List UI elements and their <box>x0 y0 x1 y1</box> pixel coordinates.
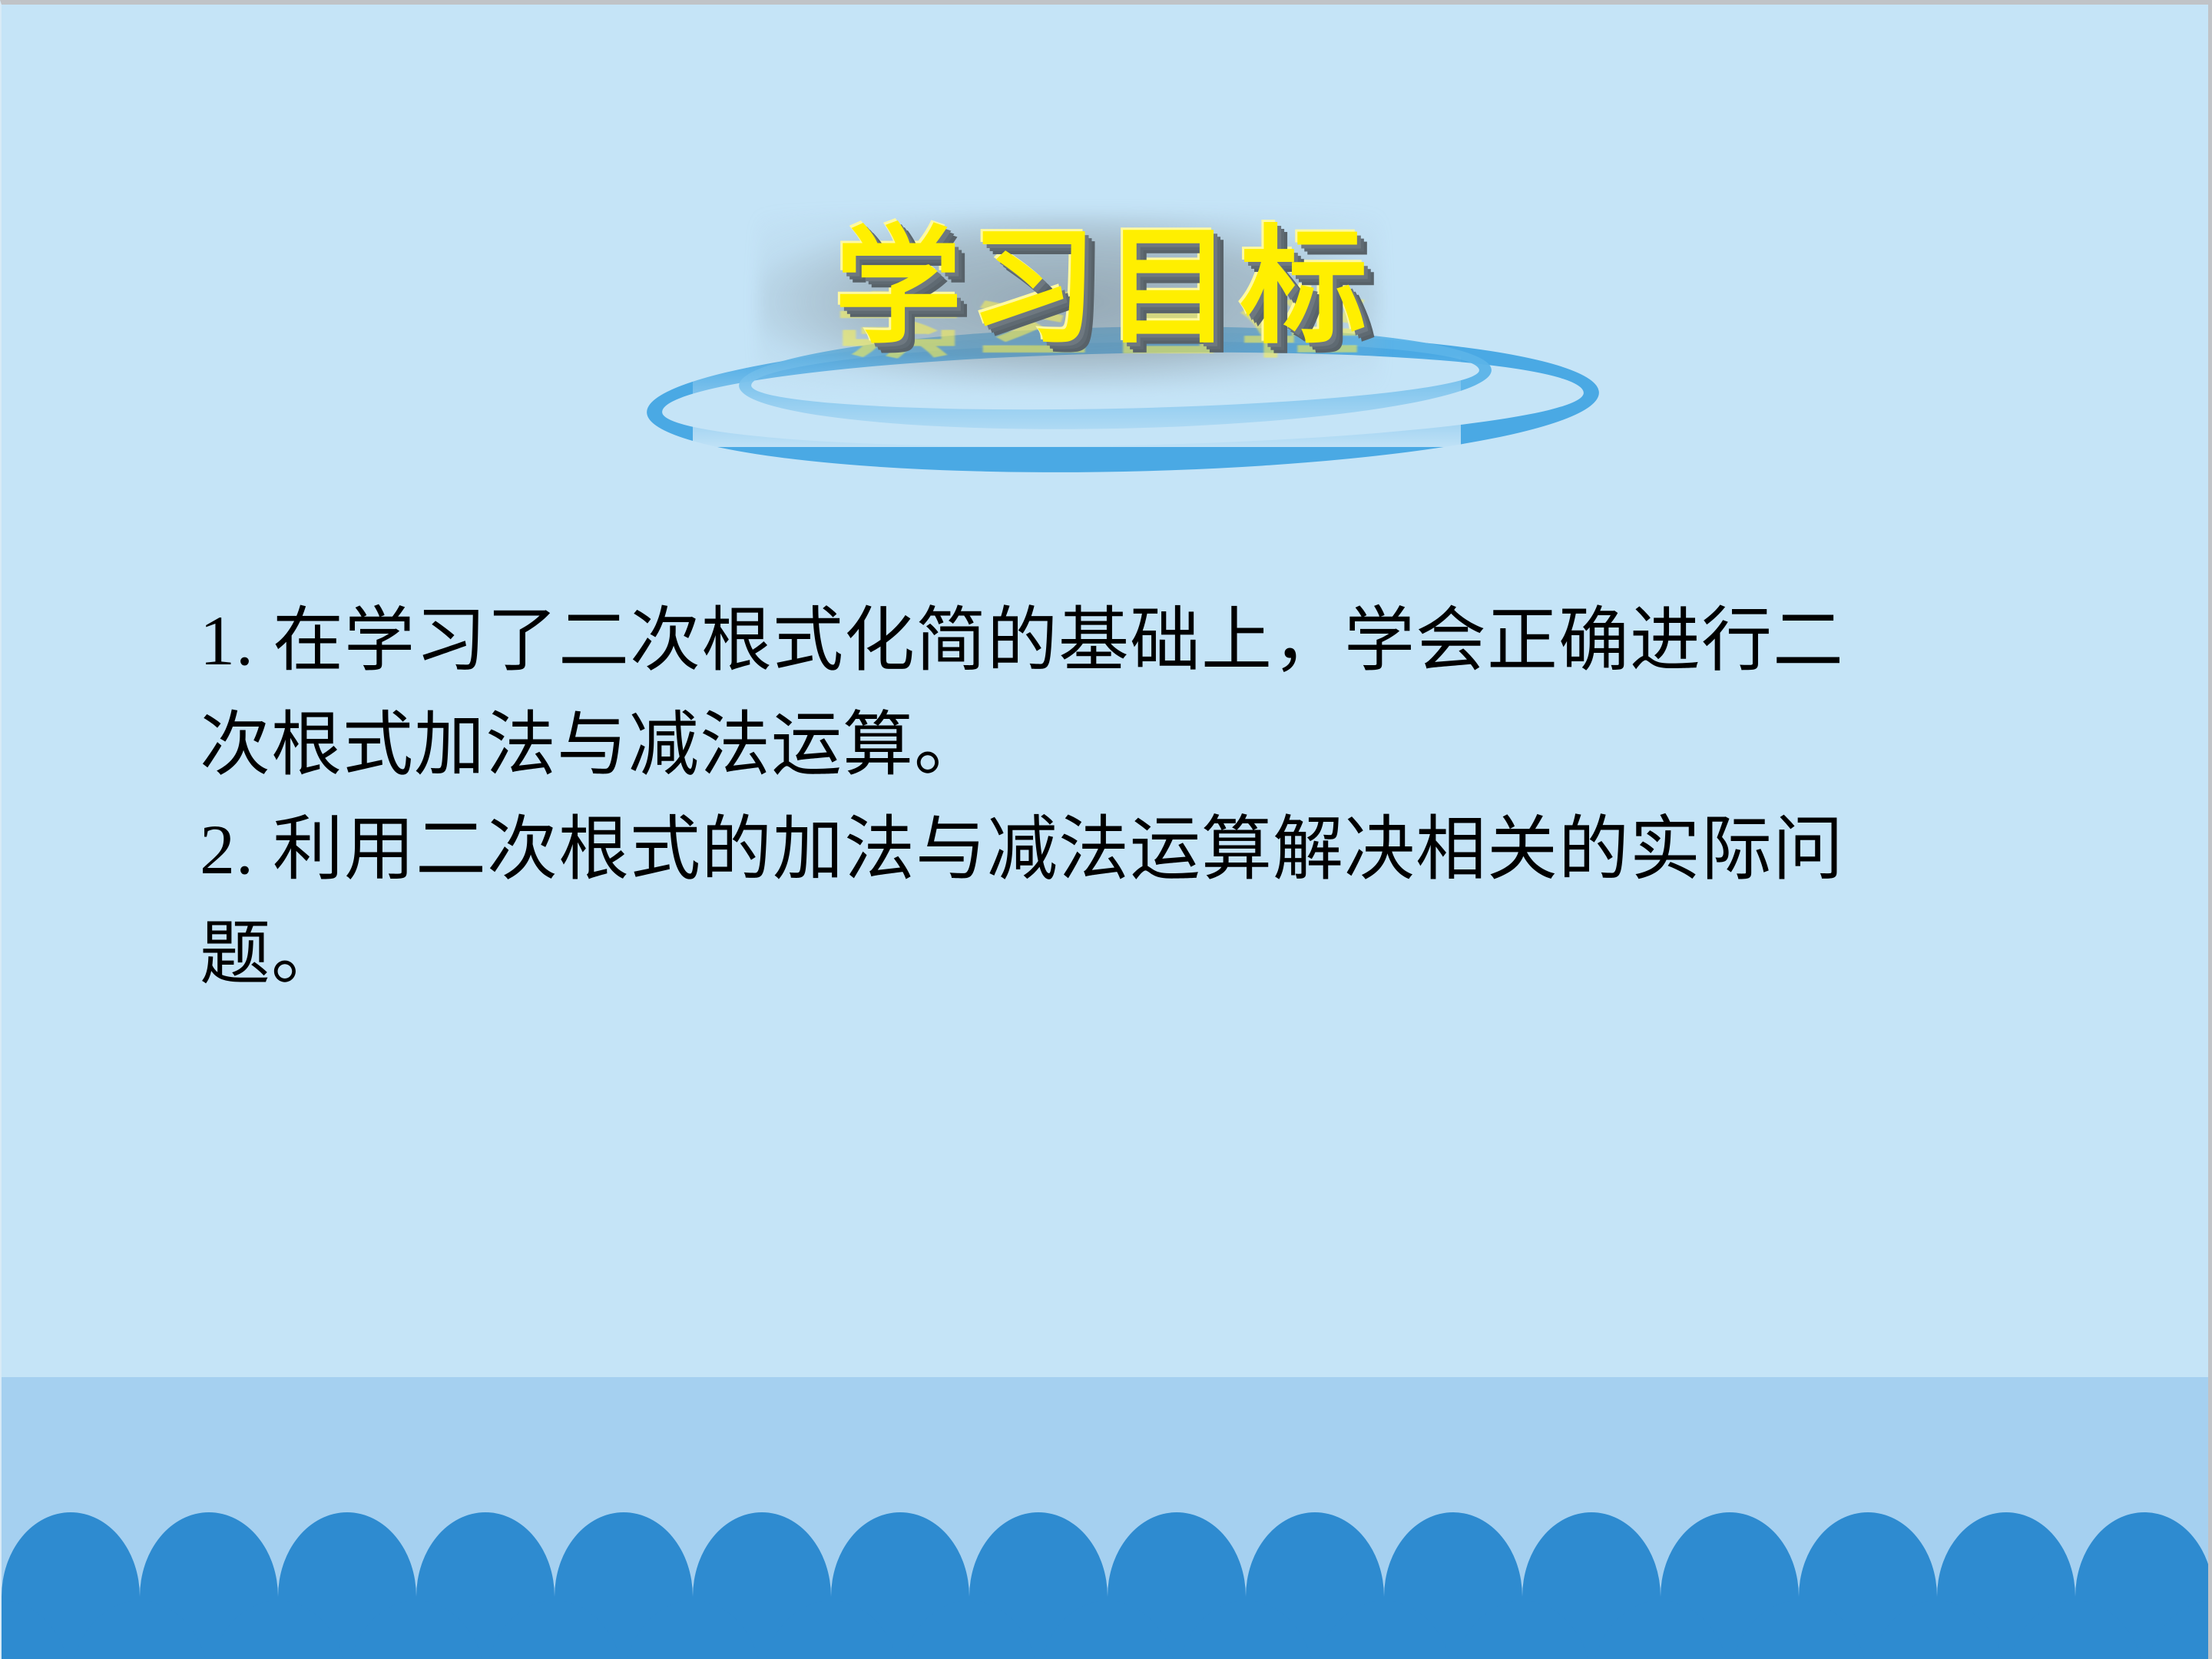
arch-shape <box>1453 1601 1591 1659</box>
arch-shape <box>762 1601 900 1659</box>
arch-shape <box>347 1601 485 1659</box>
title-block: 学习目标 学习目标 <box>2 197 2208 450</box>
arch-shape <box>1038 1601 1177 1659</box>
arch-shape <box>624 1601 762 1659</box>
objective-line-3: 2. 利用二次根式的加法与减法运算解决相关的实际问 <box>200 797 2074 902</box>
arch-shape <box>1315 1601 1453 1659</box>
page-title: 学习目标 <box>2 224 2208 352</box>
arch-shape <box>1868 1601 2006 1659</box>
objective-line-1: 1. 在学习了二次根式化简的基础上，学会正确进行二 <box>200 588 2074 693</box>
blue-ellipse-ring-outer-icon <box>645 323 1600 482</box>
title-reflection-fade <box>693 355 1461 447</box>
arch-shape <box>1730 1601 1868 1659</box>
arch-shape <box>209 1601 347 1659</box>
arch-shape <box>485 1601 624 1659</box>
arch-shape <box>1591 1601 1730 1659</box>
blue-ellipse-ring-inner-icon <box>738 320 1493 436</box>
objective-line-2: 次根式加法与减法运算。 <box>200 693 2074 797</box>
title-glow-halo <box>758 214 1380 390</box>
arch-shape <box>71 1601 209 1659</box>
arch-shape <box>900 1601 1038 1659</box>
objective-line-4: 题。 <box>200 902 2074 1006</box>
objectives-text-block: 1. 在学习了二次根式化简的基础上，学会正确进行二 次根式加法与减法运算。 2.… <box>200 588 2074 1006</box>
arch-shape <box>1177 1601 1315 1659</box>
arch-shape <box>2006 1601 2144 1659</box>
slide-canvas: 学习目标 学习目标 1. 在学习了二次根式化简的基础上，学会正确进行二 次根式加… <box>0 0 2212 1659</box>
footer-decoration-band <box>2 1377 2208 1659</box>
arch-row-bottom <box>2 1601 2139 1659</box>
arch-shape <box>2 1601 71 1659</box>
title-reflection: 学习目标 <box>2 286 2208 356</box>
